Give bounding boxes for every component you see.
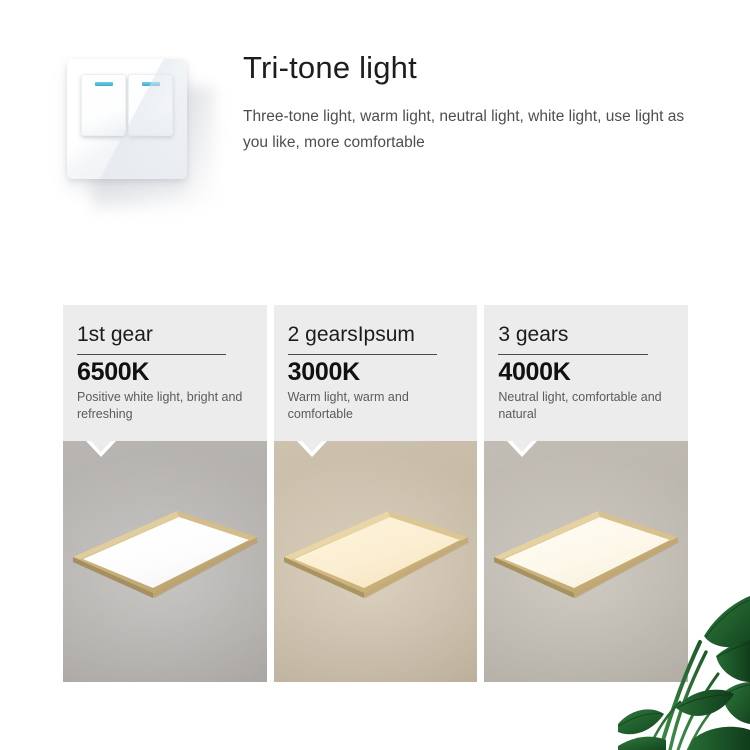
- notch-icon: [301, 440, 323, 452]
- divider: [77, 354, 226, 355]
- ceiling-photo: [484, 441, 688, 682]
- led-indicator-icon: [95, 82, 113, 86]
- wall-switch-figure: [62, 52, 212, 202]
- ceiling-photo: [274, 441, 478, 682]
- gear-description: Positive white light, bright and refresh…: [77, 389, 253, 423]
- gear-label: 3 gears: [498, 323, 674, 347]
- kelvin-value: 6500K: [77, 358, 253, 387]
- gear-description: Neutral light, comfortable and natural: [498, 389, 674, 423]
- switch-rocker-group: [81, 74, 173, 136]
- kelvin-value: 4000K: [498, 358, 674, 387]
- gear-panel-header: 2 gearsIpsum 3000K Warm light, warm and …: [274, 305, 478, 441]
- divider: [498, 354, 647, 355]
- switch-rocker-right[interactable]: [128, 74, 173, 136]
- hero-section: Tri-tone light Three-tone light, warm li…: [0, 0, 750, 250]
- divider: [288, 354, 437, 355]
- ceiling-lamp: [488, 493, 684, 611]
- notch-icon: [511, 440, 533, 452]
- ceiling-lamp: [67, 493, 263, 611]
- gear-label: 1st gear: [77, 323, 253, 347]
- led-indicator-icon: [142, 82, 160, 86]
- gear-panel-header: 1st gear 6500K Positive white light, bri…: [63, 305, 267, 441]
- ceiling-photo: [63, 441, 267, 682]
- gear-description: Warm light, warm and comfortable: [288, 389, 464, 423]
- page-subtitle: Three-tone light, warm light, neutral li…: [243, 104, 688, 156]
- page-title: Tri-tone light: [243, 50, 417, 86]
- gear-label: 2 gearsIpsum: [288, 323, 464, 347]
- gear-panel-header: 3 gears 4000K Neutral light, comfortable…: [484, 305, 688, 441]
- gear-panel[interactable]: 1st gear 6500K Positive white light, bri…: [63, 305, 267, 682]
- notch-icon: [90, 440, 112, 452]
- switch-plate: [67, 59, 187, 179]
- gear-panel[interactable]: 2 gearsIpsum 3000K Warm light, warm and …: [274, 305, 478, 682]
- ceiling-lamp: [278, 493, 474, 611]
- kelvin-value: 3000K: [288, 358, 464, 387]
- gear-panel[interactable]: 3 gears 4000K Neutral light, comfortable…: [484, 305, 688, 682]
- gear-panel-group: 1st gear 6500K Positive white light, bri…: [63, 305, 688, 682]
- switch-rocker-left[interactable]: [81, 74, 126, 136]
